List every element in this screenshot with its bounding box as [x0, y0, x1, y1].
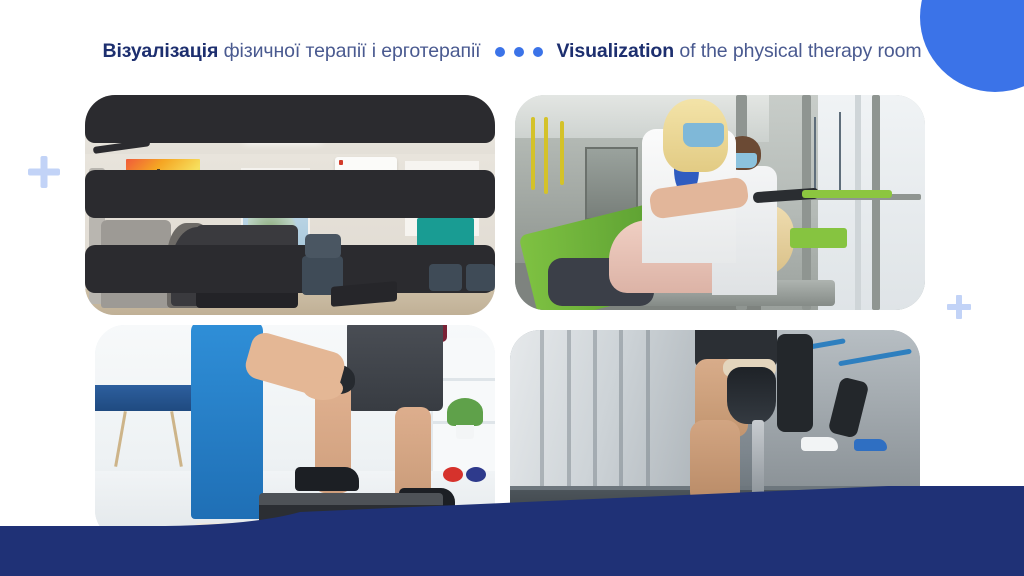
three-dots-separator-icon	[495, 47, 543, 57]
page-title-en: Visualization of the physical therapy ro…	[557, 40, 922, 63]
bottom-band-decoration-icon	[0, 486, 1024, 576]
page-title-en-strong: Visualization	[557, 40, 675, 62]
header: Візуалізація фізичної терапії і ерготера…	[0, 40, 1024, 63]
photo-card-therapist-patient[interactable]	[515, 95, 925, 310]
slide-root: Візуалізація фізичної терапії і ерготера…	[0, 0, 1024, 576]
photo-card-therapy-room[interactable]	[85, 95, 495, 315]
page-title-uk: Візуалізація фізичної терапії і ерготера…	[102, 40, 480, 63]
photo-therapy-room	[85, 95, 495, 315]
page-title-en-light: of the physical therapy room	[674, 40, 921, 62]
page-title-uk-strong: Візуалізація	[102, 40, 218, 62]
photo-therapist-patient	[515, 95, 925, 310]
page-title-uk-light: фізичної терапії і ерготерапії	[218, 40, 480, 62]
